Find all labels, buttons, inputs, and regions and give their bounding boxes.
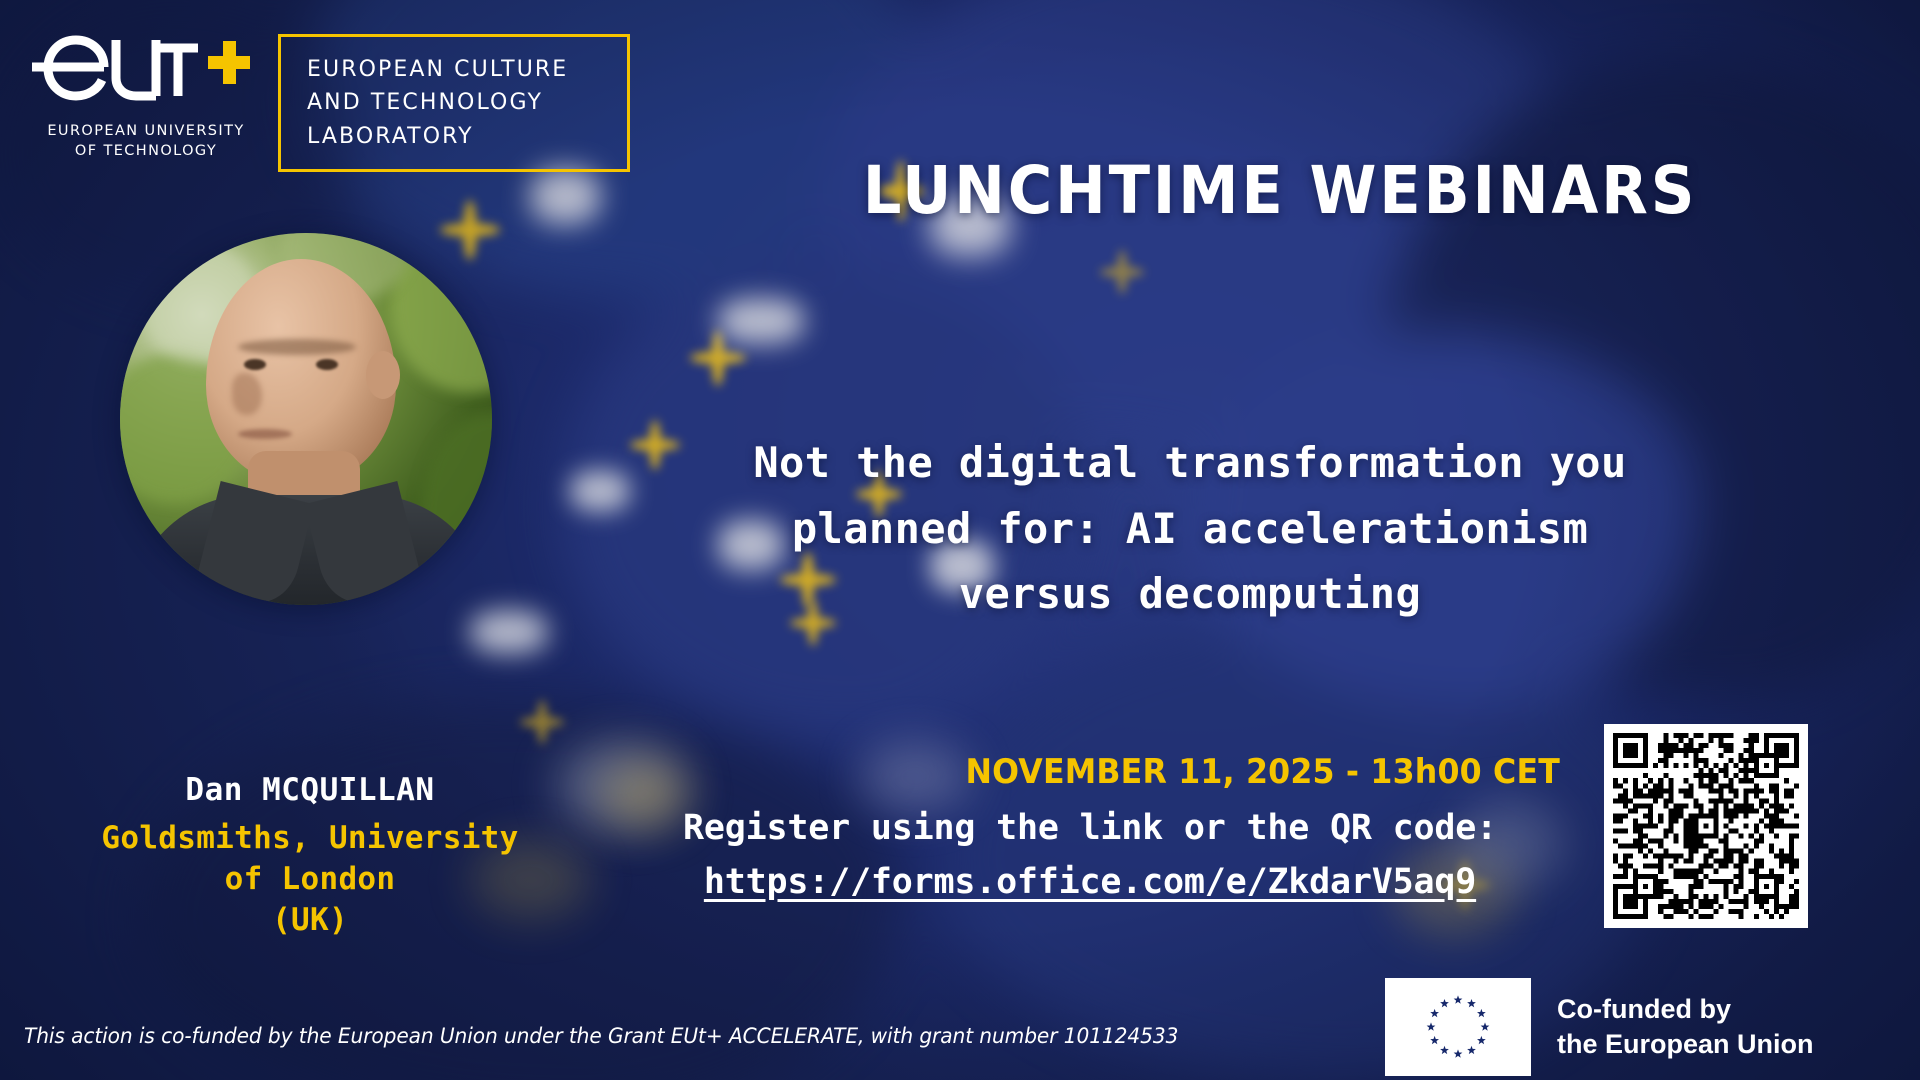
speaker-portrait (120, 233, 492, 605)
talk-title: Not the digital transformation you plann… (600, 430, 1780, 627)
eut-subtitle: EUROPEAN UNIVERSITY OF TECHNOLOGY (26, 122, 266, 161)
lab-line-1: EUROPEAN CULTURE (307, 53, 607, 86)
eut-subtitle-line-1: EUROPEAN UNIVERSITY (26, 122, 266, 142)
eu-cofunding-logo: Co-funded by the European Union (1385, 978, 1814, 1076)
event-date-time: NOVEMBER 11, 2025 - 13h00 CET (760, 752, 1560, 792)
funding-footer-note: This action is co-funded by the European… (24, 1024, 1178, 1048)
lab-line-3: LABORATORY (307, 120, 607, 153)
eut-subtitle-line-2: OF TECHNOLOGY (26, 142, 266, 162)
qr-code-image (1613, 733, 1799, 919)
talk-title-line-2: planned for: AI accelerationism (600, 496, 1780, 562)
register-url-link[interactable]: https://forms.office.com/e/ZkdarV5aq9 (620, 862, 1560, 902)
eu-cofunding-text: Co-funded by the European Union (1557, 992, 1814, 1062)
speaker-name: Dan MCQUILLAN (60, 772, 560, 808)
eut-plus-mark-icon (26, 22, 266, 112)
eut-mark-group: EUROPEAN UNIVERSITY OF TECHNOLOGY (26, 22, 266, 161)
talk-title-line-1: Not the digital transformation you (600, 430, 1780, 496)
eu-cofunding-line-2: the European Union (1557, 1027, 1814, 1062)
speaker-affiliation-line-3: (UK) (40, 900, 580, 941)
talk-title-line-3: versus decomputing (600, 561, 1780, 627)
register-prompt: Register using the link or the QR code: (620, 808, 1560, 848)
speaker-affiliation-line-2: of London (40, 859, 580, 900)
lab-line-2: AND TECHNOLOGY (307, 86, 607, 119)
lab-name-box: EUROPEAN CULTURE AND TECHNOLOGY LABORATO… (278, 34, 630, 172)
speaker-affiliation: Goldsmiths, University of London (UK) (40, 818, 580, 941)
speaker-affiliation-line-1: Goldsmiths, University (40, 818, 580, 859)
eu-cofunding-line-1: Co-funded by (1557, 992, 1814, 1027)
poster-headline: LUNCHTIME WEBINARS (802, 152, 1759, 229)
eu-flag-icon (1385, 978, 1531, 1076)
eut-plus-logo: EUROPEAN UNIVERSITY OF TECHNOLOGY EUROPE… (26, 22, 630, 172)
registration-qr-code[interactable] (1604, 724, 1808, 928)
webinar-poster: EUROPEAN UNIVERSITY OF TECHNOLOGY EUROPE… (0, 0, 1920, 1080)
